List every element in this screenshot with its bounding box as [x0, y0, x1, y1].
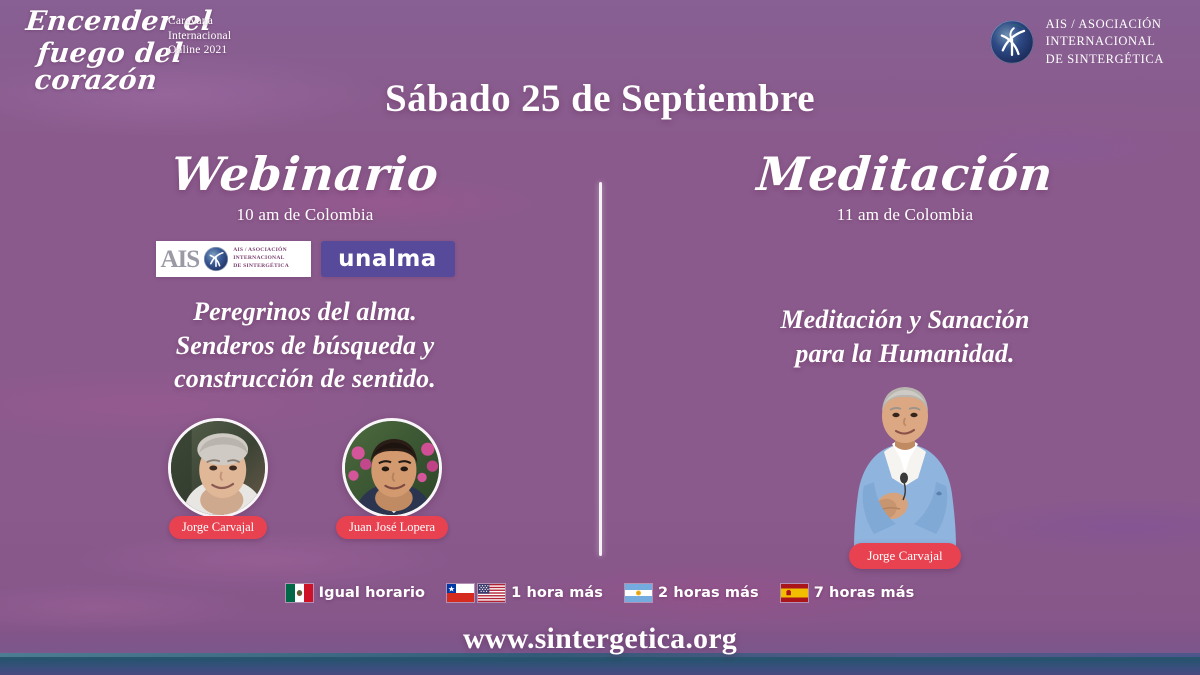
chile-flag-icon	[447, 584, 474, 602]
meditation-description-line1: Meditación y Sanación	[660, 303, 1150, 336]
webinar-column: Webinario 10 am de Colombia AIS	[60, 150, 550, 395]
argentina-flag-icon	[625, 584, 652, 602]
campaign-subtitle-line2: Internacional	[168, 29, 231, 44]
meditation-description-line2: para la Humanidad.	[660, 337, 1150, 370]
timezone-label: 1 hora más	[511, 585, 603, 601]
ais-card-line3: DE SINTERGÉTICA	[233, 263, 289, 271]
poster-canvas: Encender el fuego del corazón Caravana I…	[0, 0, 1200, 675]
ais-org-line1: AIS / ASOCIACIÓN	[1046, 16, 1164, 33]
ais-card-line1: AIS / ASOCIACIÓN	[233, 247, 289, 255]
meditation-time: 11 am de Colombia	[660, 205, 1150, 225]
unalma-logo-card: unalma	[321, 241, 455, 277]
campaign-title-line1: Encender el	[25, 8, 288, 35]
speaker-card: Jorge Carvajal	[154, 418, 282, 539]
webinar-description-line3: construcción de sentido.	[60, 362, 550, 395]
campaign-subtitle-line1: Caravana	[168, 14, 231, 29]
ais-logo-text: AIS / ASOCIACIÓN INTERNACIONAL DE SINTER…	[233, 247, 289, 271]
speaker-name-badge: Jorge Carvajal	[169, 516, 267, 539]
speaker-card: Juan José Lopera	[328, 418, 456, 539]
timezone-item: 7 horas más	[781, 584, 915, 602]
unalma-wordmark: unalma	[338, 248, 437, 271]
timezone-item: Igual horario	[286, 584, 426, 602]
background-sea-strip	[0, 653, 1200, 675]
meditation-column: Meditación 11 am de Colombia Meditación …	[660, 150, 1150, 370]
usa-flag-icon	[478, 584, 505, 602]
ais-organization-logo: AIS / ASOCIACIÓN INTERNACIONAL DE SINTER…	[989, 16, 1164, 68]
ais-org-line2: INTERNACIONAL	[1046, 33, 1164, 50]
ais-logo-card: AIS AIS / ASOCI	[156, 241, 311, 277]
timezone-flags	[286, 584, 313, 602]
webinar-speakers: Jorge Carvajal	[60, 418, 550, 539]
ais-wordmark: AIS	[161, 247, 200, 272]
meditation-heading: Meditación	[658, 150, 1152, 198]
timezone-flags	[781, 584, 808, 602]
speaker-name-badge: Juan José Lopera	[336, 516, 448, 539]
timezone-label: 2 horas más	[658, 585, 759, 601]
ais-organization-name: AIS / ASOCIACIÓN INTERNACIONAL DE SINTER…	[1046, 16, 1164, 68]
mexico-flag-icon	[286, 584, 313, 602]
timezone-legend: Igual horario	[0, 584, 1200, 602]
meditation-speaker: Jorge Carvajal	[660, 382, 1150, 569]
website-url: www.sintergetica.org	[0, 622, 1200, 656]
speaker-photo-jorge-carvajal-full	[840, 382, 970, 547]
timezone-label: 7 horas más	[814, 585, 915, 601]
speaker-name-badge: Jorge Carvajal	[849, 543, 960, 569]
meditation-description: Meditación y Sanación para la Humanidad.	[660, 303, 1150, 370]
timezone-flags	[447, 584, 505, 602]
timezone-flags	[625, 584, 652, 602]
spain-flag-icon	[781, 584, 808, 602]
timezone-item: 2 horas más	[625, 584, 759, 602]
event-date-title: Sábado 25 de Septiembre	[0, 76, 1200, 121]
ais-emblem-icon	[203, 246, 229, 272]
ais-org-line3: DE SINTERGÉTICA	[1046, 51, 1164, 68]
ais-emblem-icon	[989, 19, 1035, 65]
webinar-logo-row: AIS AIS / ASOCI	[60, 241, 550, 277]
campaign-subtitle-line3: Online 2021	[168, 43, 231, 58]
timezone-item: 1 hora más	[447, 584, 603, 602]
timezone-label: Igual horario	[319, 585, 426, 601]
webinar-heading: Webinario	[58, 150, 552, 198]
webinar-description-line2: Senderos de búsqueda y	[60, 329, 550, 362]
webinar-time: 10 am de Colombia	[60, 205, 550, 225]
speaker-photo-jorge-carvajal	[168, 418, 268, 518]
column-divider	[599, 182, 602, 556]
webinar-description: Peregrinos del alma. Senderos de búsqued…	[60, 295, 550, 395]
campaign-subtitle: Caravana Internacional Online 2021	[168, 14, 231, 58]
speaker-photo-juan-jose-lopera	[342, 418, 442, 518]
webinar-description-line1: Peregrinos del alma.	[60, 295, 550, 328]
